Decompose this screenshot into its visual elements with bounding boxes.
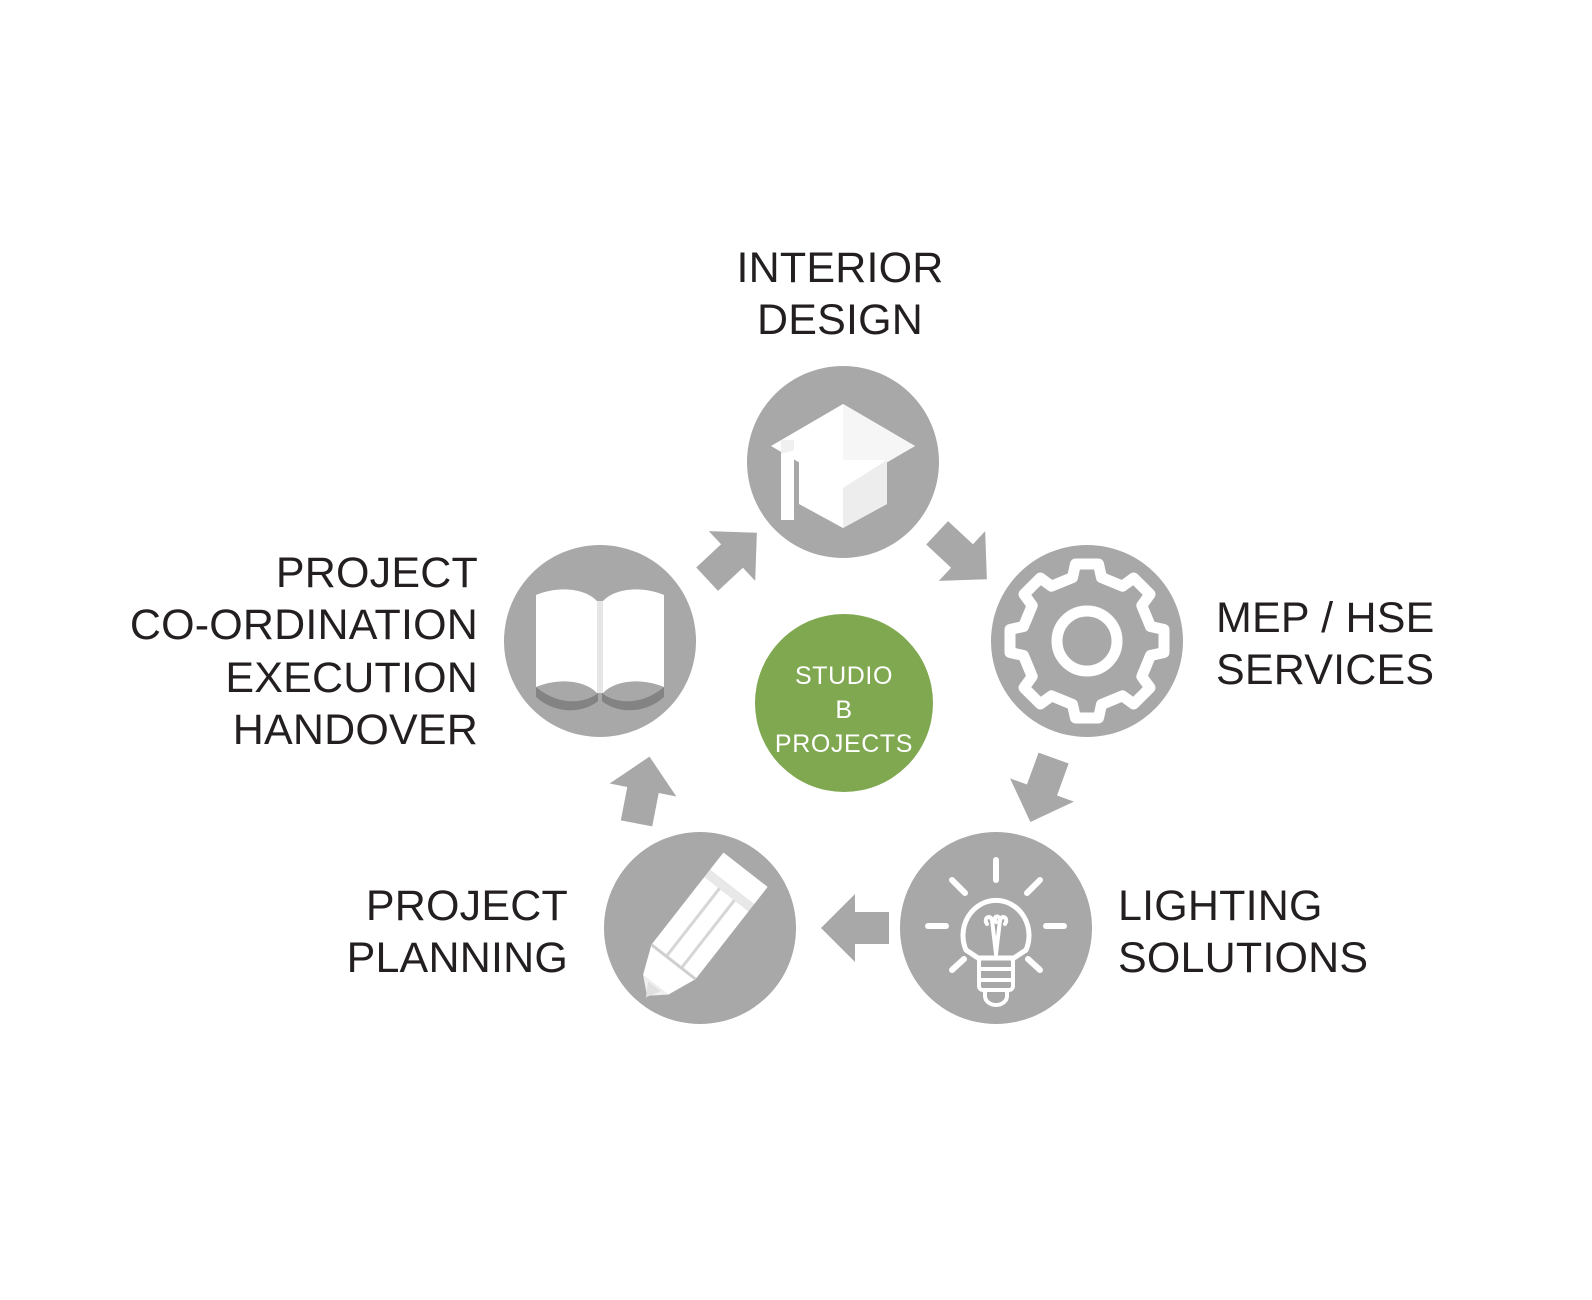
- center-label: STUDIOBPROJECTS: [744, 660, 944, 761]
- label-project-coordination-line-4: HANDOVER: [233, 706, 478, 754]
- arrow-planning-to-coordination: [603, 750, 683, 830]
- label-project-planning-line-2: PLANNING: [347, 934, 568, 982]
- label-mep-hse-services: MEP / HSESERVICES: [1216, 592, 1556, 697]
- node-circle-mep-hse-services: [991, 545, 1183, 737]
- diagram-canvas: STUDIOBPROJECTS INTERIORDESIGN MEP / HSE…: [0, 0, 1592, 1300]
- node-project-coordination[interactable]: [504, 545, 696, 737]
- label-interior-design-line-1: INTERIOR: [736, 244, 943, 292]
- label-project-planning: PROJECTPLANNING: [220, 880, 568, 985]
- label-project-planning-line-1: PROJECT: [366, 882, 568, 930]
- arrow-interior-to-mep: [914, 508, 1010, 604]
- node-project-planning[interactable]: [604, 832, 796, 1024]
- arrow-lighting-to-planning: [821, 894, 889, 962]
- label-lighting-solutions-line-2: SOLUTIONS: [1118, 934, 1368, 982]
- arrow-mep-to-lighting: [998, 746, 1085, 833]
- node-interior-design[interactable]: [747, 366, 939, 558]
- label-project-coordination-line-1: PROJECT: [276, 549, 478, 597]
- label-project-coordination-line-2: CO-ORDINATION: [130, 601, 478, 649]
- label-mep-hse-services-line-2: SERVICES: [1216, 646, 1434, 694]
- node-mep-hse-services[interactable]: [991, 545, 1183, 737]
- center-label-line-2: B: [835, 696, 852, 724]
- label-interior-design: INTERIORDESIGN: [640, 242, 1040, 347]
- center-label-line-1: STUDIO: [795, 662, 893, 690]
- label-lighting-solutions: LIGHTINGSOLUTIONS: [1118, 880, 1518, 985]
- label-project-coordination-line-3: EXECUTION: [225, 654, 478, 702]
- center-label-line-3: PROJECTS: [775, 730, 913, 758]
- label-mep-hse-services-line-1: MEP / HSE: [1216, 594, 1434, 642]
- label-lighting-solutions-line-1: LIGHTING: [1118, 882, 1323, 930]
- label-interior-design-line-2: DESIGN: [757, 296, 923, 344]
- node-lighting-solutions[interactable]: [900, 832, 1092, 1024]
- label-project-coordination: PROJECTCO-ORDINATIONEXECUTIONHANDOVER: [60, 547, 478, 757]
- arrow-coordination-to-interior: [684, 508, 780, 604]
